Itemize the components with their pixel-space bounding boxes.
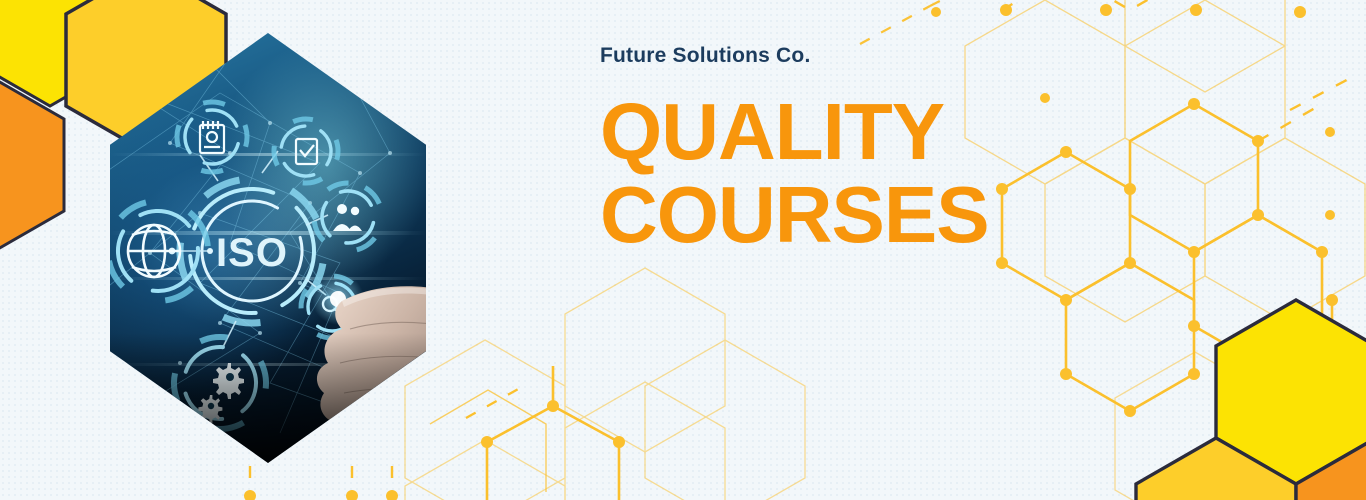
page-title: QUALITY COURSES [600,94,1140,254]
headline-block: Future Solutions Co. QUALITY COURSES [600,44,1140,254]
headline-line-1: QUALITY [600,94,1140,171]
company-name: Future Solutions Co. [600,44,1140,68]
headline-line-2: COURSES [600,177,1140,254]
banner-root: ISO [0,0,1366,500]
